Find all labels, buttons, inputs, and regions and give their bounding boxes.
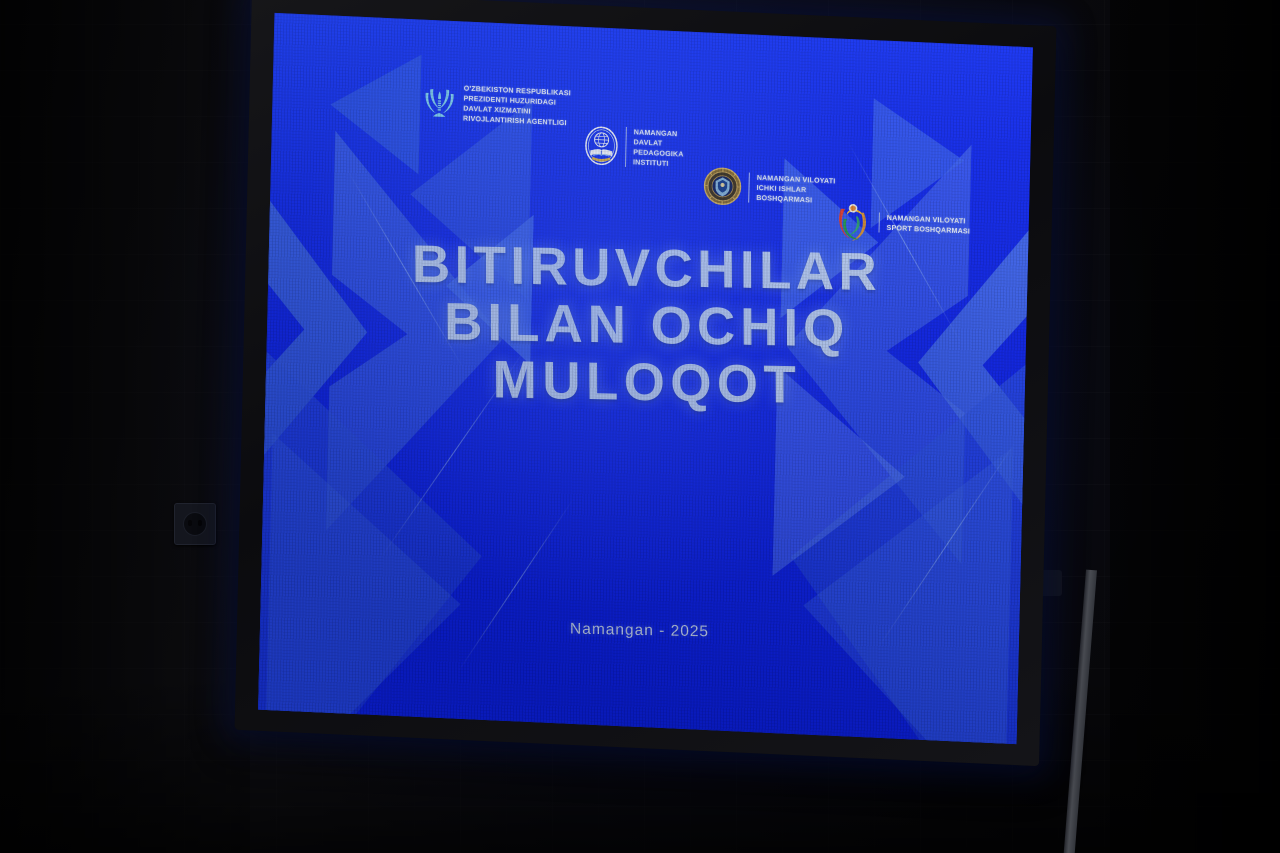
room-scene: O'ZBEKISTON RESPUBLIKASI PREZIDENTI HUZU… — [0, 0, 1280, 853]
namangan-pedagogical-institute-seal-icon — [584, 125, 619, 167]
outlet-pin-hole-right — [198, 520, 202, 526]
logo-pedagogical-institute-label: NAMANGAN DAVLAT PEDAGOGIKA INSTITUTI — [625, 127, 684, 170]
logo-state-service-agency-label: O'ZBEKISTON RESPUBLIKASI PREZIDENTI HUZU… — [463, 84, 571, 129]
logo-state-service-agency: O'ZBEKISTON RESPUBLIKASI PREZIDENTI HUZU… — [422, 82, 571, 129]
logo-internal-affairs: NAMANGAN VILOYATI ICHKI ISHLAR BOSHQARMA… — [703, 166, 836, 210]
led-display-panel: O'ZBEKISTON RESPUBLIKASI PREZIDENTI HUZU… — [235, 0, 1057, 766]
sport-department-emblem-icon — [833, 200, 872, 242]
screen-surface: O'ZBEKISTON RESPUBLIKASI PREZIDENTI HUZU… — [258, 13, 1033, 744]
power-outlet-socket — [183, 512, 207, 536]
slide-title: BITIRUVCHILAR BILAN OCHIQ MULOQOT — [267, 233, 1026, 418]
logo-sport-department: NAMANGAN VILOYATI SPORT BOSHQARMASI — [833, 200, 970, 246]
power-outlet — [174, 503, 216, 545]
logo-pedagogical-institute: NAMANGAN DAVLAT PEDAGOGIKA INSTITUTI — [584, 125, 684, 170]
outlet-pin-hole-left — [188, 520, 192, 526]
uzbekistan-humo-bird-emblem-icon — [422, 84, 457, 122]
logo-sport-department-label: NAMANGAN VILOYATI SPORT BOSHQARMASI — [878, 212, 970, 236]
logo-internal-affairs-label: NAMANGAN VILOYATI ICHKI ISHLAR BOSHQARMA… — [748, 172, 835, 206]
internal-affairs-badge-icon — [703, 166, 742, 206]
